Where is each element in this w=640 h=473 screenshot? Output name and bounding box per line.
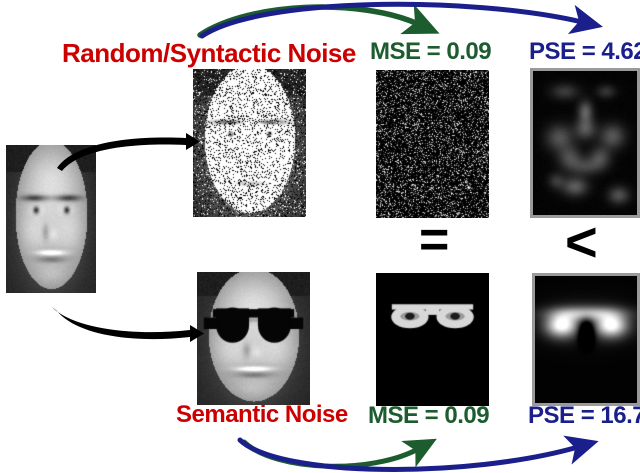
panel-pse-map-top [530,68,640,218]
figure-canvas: Random/Syntactic Noise MSE = 0.09 PSE = … [0,0,640,473]
arrow-top-noise-to-mse [200,7,418,35]
label-top-mse: MSE = 0.09 [370,40,491,64]
label-bottom-pse: PSE = 16.7 [528,404,640,428]
panel-mse-map-top [376,70,489,218]
label-bottom-mse: MSE = 0.09 [368,404,489,428]
arrow-bottom-noise-to-mse [244,442,418,466]
panel-source-face [6,145,96,293]
arrow-top-noise-to-pse [202,4,582,36]
arrow-bottom-noise-to-pse [240,440,578,469]
panel-pse-map-bottom [532,273,640,406]
operator-mse-equals: = [419,214,449,266]
label-bottom-noise: Semantic Noise [176,403,348,427]
arrow-source-to-sunglasses [52,307,204,342]
operator-pse-lessthan: < [565,214,598,270]
panel-noisy-face [193,69,306,217]
panel-mse-map-bottom [376,273,489,406]
label-top-noise: Random/Syntactic Noise [62,40,356,66]
label-top-pse: PSE = 4.62 [529,40,640,64]
panel-sunglasses-face [197,272,310,405]
